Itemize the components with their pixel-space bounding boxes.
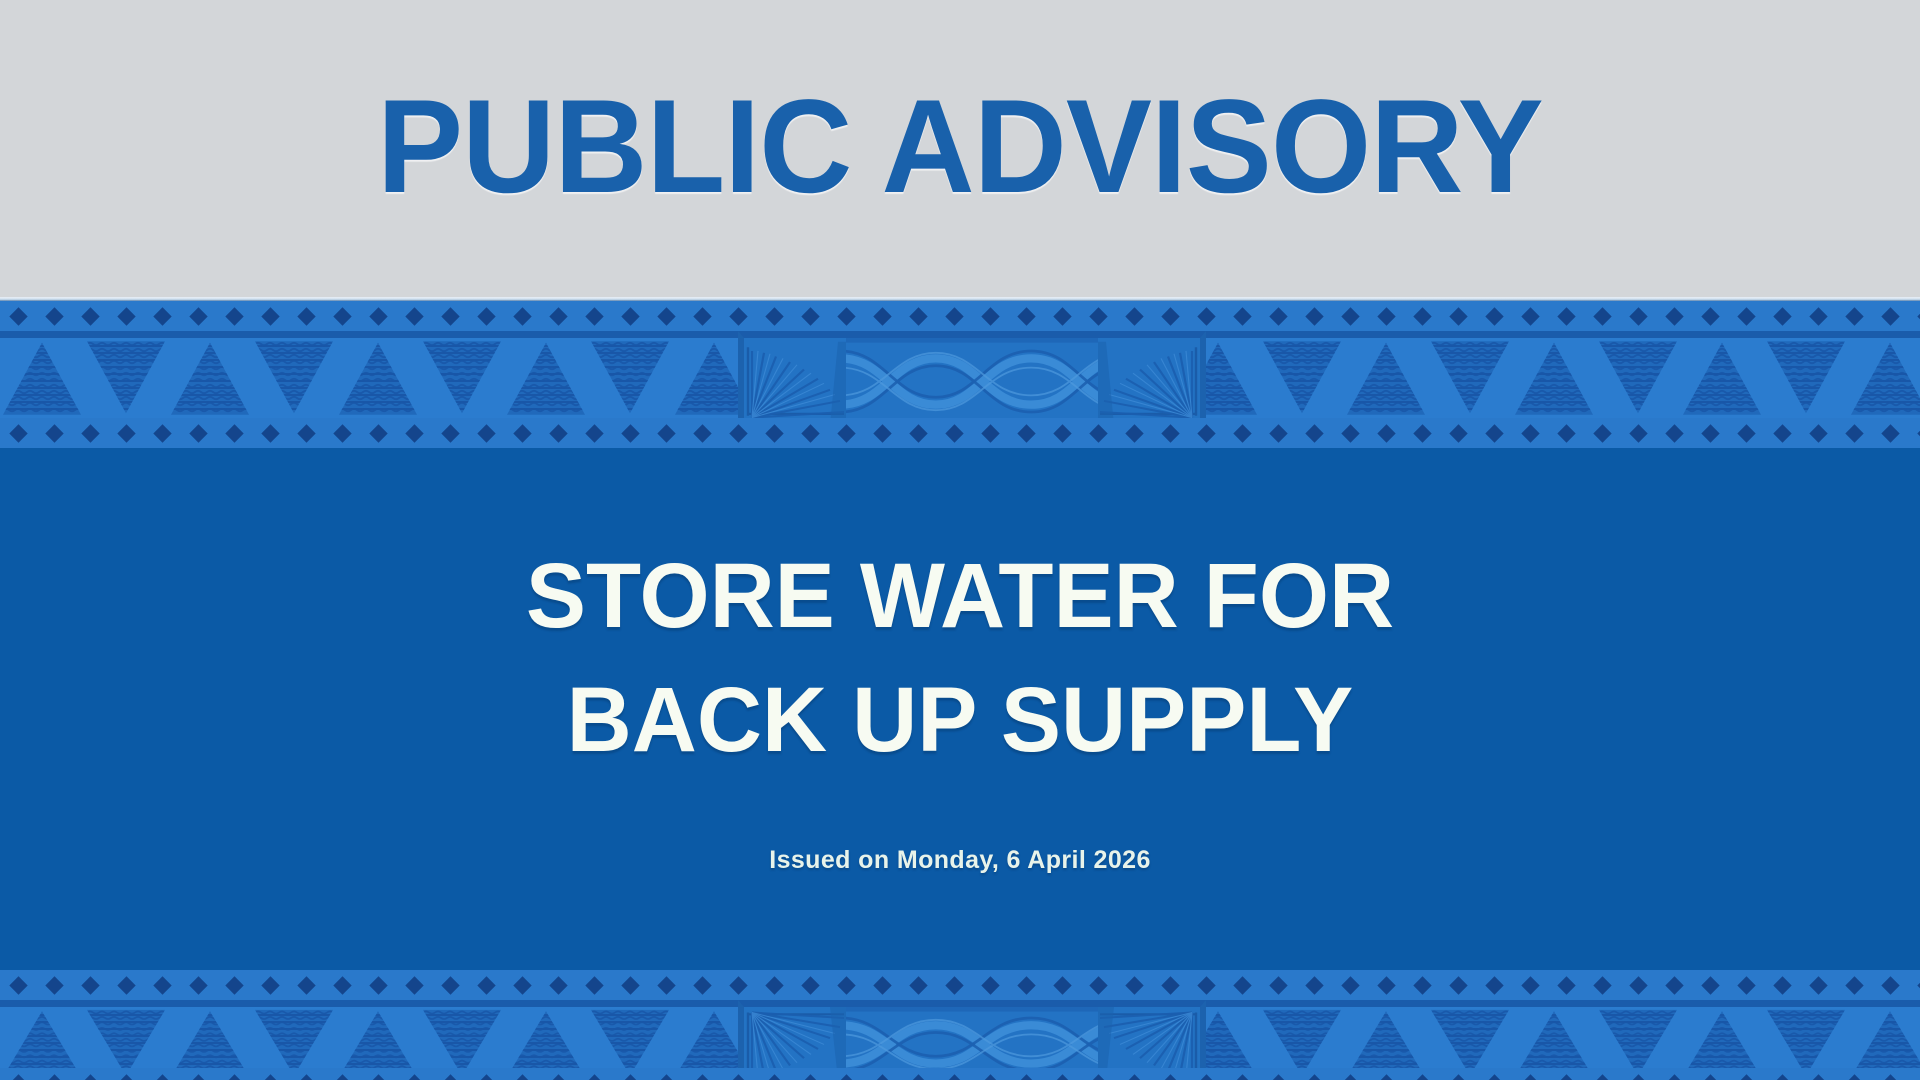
wavy-triangle-motif <box>420 338 504 418</box>
diamond-motif <box>1377 424 1395 442</box>
diamond-motif <box>1197 424 1215 442</box>
diamond-motif <box>1269 307 1287 325</box>
diamond-motif <box>1341 424 1359 442</box>
wavy-triangle-motif <box>252 338 336 418</box>
diamond-motif <box>1809 424 1827 442</box>
diamond-motif <box>81 1074 99 1080</box>
diamond-row <box>0 301 1920 331</box>
fan-svg <box>744 338 846 425</box>
diamond-motif <box>1701 307 1719 325</box>
diamond-motif <box>549 1074 567 1080</box>
braid-svg <box>846 338 1098 425</box>
diamond-motif <box>9 424 27 442</box>
wavy-triangle-motif <box>1428 338 1512 418</box>
diamond-motif <box>1701 976 1719 994</box>
diamond-motif <box>1197 307 1215 325</box>
diamond-motif <box>405 976 423 994</box>
top-ornament-band <box>0 301 1920 448</box>
diamond-motif <box>9 307 27 325</box>
diamond-motif <box>297 1074 315 1080</box>
diamond-motif <box>981 424 999 442</box>
sunburst-fan-icon-left <box>744 338 846 425</box>
diamond-rail-top <box>0 301 1920 331</box>
diamond-motif <box>153 307 171 325</box>
diamond-motif <box>945 424 963 442</box>
diamond-motif <box>1449 424 1467 442</box>
diamond-motif <box>765 307 783 325</box>
diamond-motif <box>1701 1074 1719 1080</box>
diamond-motif <box>621 307 639 325</box>
diamond-motif <box>981 1074 999 1080</box>
diamond-motif <box>333 307 351 325</box>
wavy-lines <box>1683 338 1761 418</box>
diamond-motif <box>1269 976 1287 994</box>
diamond-motif <box>225 976 243 994</box>
diamond-motif <box>1737 1074 1755 1080</box>
wavy-lines <box>1767 338 1845 418</box>
diamond-motif <box>801 1074 819 1080</box>
diamond-motif <box>1305 1074 1323 1080</box>
diamond-motif <box>1485 1074 1503 1080</box>
diamond-motif <box>657 1074 675 1080</box>
diamond-motif <box>549 976 567 994</box>
diamond-motif <box>909 976 927 994</box>
diamond-motif <box>1701 424 1719 442</box>
diamond-motif <box>441 1074 459 1080</box>
diamond-motif <box>1341 976 1359 994</box>
wavy-lines <box>423 338 501 418</box>
diamond-motif <box>1593 976 1611 994</box>
diamond-motif <box>585 1074 603 1080</box>
diamond-motif <box>225 1074 243 1080</box>
diamond-motif <box>9 976 27 994</box>
diamond-motif <box>981 976 999 994</box>
diamond-motif <box>117 424 135 442</box>
issued-date: Issued on Monday, 6 April 2026 <box>769 846 1151 875</box>
diamond-motif <box>945 976 963 994</box>
diamond-motif <box>1053 976 1071 994</box>
diamond-motif <box>1593 1074 1611 1080</box>
diamond-motif <box>1521 1074 1539 1080</box>
diamond-rail-bottom <box>0 418 1920 448</box>
diamond-motif <box>1125 307 1143 325</box>
diamond-motif <box>1377 976 1395 994</box>
diamond-motif <box>1017 976 1035 994</box>
diamond-motif <box>801 307 819 325</box>
diamond-motif <box>1521 307 1539 325</box>
interlaced-braid <box>846 338 1098 425</box>
diamond-motif <box>1233 1074 1251 1080</box>
diamond-rail-top <box>0 970 1920 1000</box>
diamond-motif <box>621 1074 639 1080</box>
diamond-motif <box>153 976 171 994</box>
diamond-motif <box>1557 424 1575 442</box>
wavy-triangle-motif <box>1344 338 1428 418</box>
diamond-motif <box>801 424 819 442</box>
diamond-motif <box>1665 976 1683 994</box>
diamond-motif <box>405 1074 423 1080</box>
diamond-motif <box>369 1074 387 1080</box>
diamond-motif <box>1593 307 1611 325</box>
diamond-motif <box>1737 424 1755 442</box>
diamond-motif <box>1845 424 1863 442</box>
diamond-motif <box>873 307 891 325</box>
diamond-motif <box>657 976 675 994</box>
diamond-motif <box>945 307 963 325</box>
diamond-motif <box>225 307 243 325</box>
diamond-motif <box>1809 976 1827 994</box>
diamond-motif <box>189 307 207 325</box>
diamond-motif <box>765 976 783 994</box>
diamond-motif <box>369 307 387 325</box>
diamond-motif <box>1881 424 1899 442</box>
diamond-motif <box>45 307 63 325</box>
diamond-motif <box>1089 976 1107 994</box>
wavy-lines <box>255 338 333 418</box>
diamond-motif <box>513 424 531 442</box>
diamond-motif <box>117 307 135 325</box>
diamond-motif <box>765 1074 783 1080</box>
diamond-motif <box>261 976 279 994</box>
wavy-triangle-motif <box>0 338 84 418</box>
diamond-motif <box>477 976 495 994</box>
wavy-triangle-motif <box>1680 338 1764 418</box>
diamond-motif <box>297 976 315 994</box>
diamond-motif <box>909 1074 927 1080</box>
page-title: PUBLIC ADVISORY <box>377 81 1543 214</box>
diamond-motif <box>1413 424 1431 442</box>
diamond-motif <box>45 1074 63 1080</box>
diamond-motif <box>189 976 207 994</box>
diamond-motif <box>1449 1074 1467 1080</box>
diamond-motif <box>1629 424 1647 442</box>
diamond-motif <box>1665 1074 1683 1080</box>
diamond-motif <box>441 424 459 442</box>
wavy-triangle-motif <box>504 338 588 418</box>
diamond-motif <box>1737 307 1755 325</box>
diamond-motif <box>873 424 891 442</box>
wavy-triangle-motif <box>1512 338 1596 418</box>
diamond-motif <box>513 976 531 994</box>
diamond-motif <box>1845 1074 1863 1080</box>
diamond-motif <box>1089 424 1107 442</box>
wavy-triangle-motif <box>336 338 420 418</box>
diamond-motif <box>1773 976 1791 994</box>
diamond-motif <box>693 976 711 994</box>
diamond-motif <box>405 307 423 325</box>
diamond-motif <box>1485 976 1503 994</box>
diamond-motif <box>333 976 351 994</box>
diamond-motif <box>1593 424 1611 442</box>
diamond-motif <box>729 1074 747 1080</box>
wavy-lines <box>1347 338 1425 418</box>
sunburst-fan-icon-right <box>1098 338 1200 425</box>
diamond-motif <box>1161 976 1179 994</box>
diamond-motif <box>1881 976 1899 994</box>
diamond-motif <box>1665 307 1683 325</box>
diamond-motif <box>1809 307 1827 325</box>
diamond-row <box>0 1068 1920 1080</box>
diamond-motif <box>1341 307 1359 325</box>
diamond-motif <box>1665 424 1683 442</box>
header-band: PUBLIC ADVISORY <box>0 0 1920 301</box>
diamond-motif <box>1845 976 1863 994</box>
diamond-motif <box>1053 307 1071 325</box>
wavy-lines <box>87 338 165 418</box>
diamond-motif <box>1773 424 1791 442</box>
diamond-motif <box>1413 1074 1431 1080</box>
diamond-motif <box>837 424 855 442</box>
diamond-motif <box>621 976 639 994</box>
diamond-motif <box>657 307 675 325</box>
diamond-motif <box>1485 307 1503 325</box>
diamond-motif <box>1233 307 1251 325</box>
diamond-motif <box>1341 1074 1359 1080</box>
diamond-motif <box>1773 1074 1791 1080</box>
wavy-lines <box>1431 338 1509 418</box>
wavy-lines <box>1263 338 1341 418</box>
wavy-triangle-motif <box>1260 338 1344 418</box>
diamond-motif <box>405 424 423 442</box>
diamond-motif <box>297 307 315 325</box>
wavy-lines <box>1599 338 1677 418</box>
diamond-motif <box>1305 976 1323 994</box>
diamond-motif <box>1305 307 1323 325</box>
diamond-motif <box>837 1074 855 1080</box>
diamond-motif <box>153 1074 171 1080</box>
diamond-motif <box>1413 976 1431 994</box>
diamond-motif <box>1557 1074 1575 1080</box>
diamond-motif <box>1017 307 1035 325</box>
diamond-rail-bottom <box>0 1068 1920 1080</box>
diamond-motif <box>477 424 495 442</box>
diamond-motif <box>81 307 99 325</box>
diamond-motif <box>1089 307 1107 325</box>
fan-svg <box>1098 338 1200 425</box>
wavy-triangle-motif <box>84 338 168 418</box>
diamond-motif <box>1485 424 1503 442</box>
diamond-motif <box>1629 1074 1647 1080</box>
diamond-motif <box>333 424 351 442</box>
diamond-motif <box>729 976 747 994</box>
wavy-triangle-motif <box>588 338 672 418</box>
diamond-motif <box>1269 1074 1287 1080</box>
diamond-motif <box>1197 1074 1215 1080</box>
headline-line-1: STORE WATER FOR <box>526 534 1394 658</box>
diamond-motif <box>873 1074 891 1080</box>
diamond-motif <box>1161 1074 1179 1080</box>
diamond-motif <box>1809 1074 1827 1080</box>
wavy-triangle-motif <box>168 338 252 418</box>
diamond-motif <box>1161 424 1179 442</box>
diamond-motif <box>1125 1074 1143 1080</box>
diamond-motif <box>1737 976 1755 994</box>
diamond-motif <box>261 1074 279 1080</box>
diamond-motif <box>765 424 783 442</box>
diamond-motif <box>801 976 819 994</box>
diamond-motif <box>441 307 459 325</box>
diamond-motif <box>1881 1074 1899 1080</box>
diamond-row <box>0 970 1920 1000</box>
diamond-motif <box>117 976 135 994</box>
wavy-triangle-motif <box>1848 338 1920 418</box>
diamond-motif <box>1773 307 1791 325</box>
diamond-motif <box>1017 424 1035 442</box>
diamond-motif <box>909 424 927 442</box>
diamond-motif <box>1233 424 1251 442</box>
diamond-motif <box>1233 976 1251 994</box>
diamond-motif <box>585 976 603 994</box>
headline-line-2: BACK UP SUPPLY <box>526 658 1394 782</box>
diamond-motif <box>1629 976 1647 994</box>
diamond-motif <box>1629 307 1647 325</box>
diamond-motif <box>621 424 639 442</box>
center-medallion <box>738 331 1206 425</box>
diamond-motif <box>189 424 207 442</box>
diamond-motif <box>477 1074 495 1080</box>
diamond-motif <box>585 424 603 442</box>
wavy-lines <box>507 338 585 418</box>
diamond-motif <box>513 307 531 325</box>
diamond-motif <box>1557 976 1575 994</box>
diamond-motif <box>585 307 603 325</box>
wavy-triangle-motif <box>1596 338 1680 418</box>
diamond-motif <box>1125 976 1143 994</box>
wavy-triangle-motif <box>1764 338 1848 418</box>
diamond-motif <box>549 307 567 325</box>
diamond-motif <box>1377 1074 1395 1080</box>
diamond-motif <box>981 307 999 325</box>
diamond-motif <box>729 424 747 442</box>
diamond-motif <box>477 307 495 325</box>
diamond-motif <box>333 1074 351 1080</box>
advisory-content: STORE WATER FOR BACK UP SUPPLY Issued on… <box>0 448 1920 970</box>
diamond-motif <box>1017 1074 1035 1080</box>
diamond-motif <box>1197 976 1215 994</box>
wavy-lines <box>339 338 417 418</box>
wavy-lines <box>591 338 669 418</box>
diamond-motif <box>549 424 567 442</box>
wavy-lines <box>1851 338 1920 418</box>
diamond-motif <box>1881 307 1899 325</box>
diamond-motif <box>261 424 279 442</box>
diamond-motif <box>1521 976 1539 994</box>
diamond-motif <box>9 1074 27 1080</box>
wavy-lines <box>3 338 81 418</box>
diamond-motif <box>261 307 279 325</box>
diamond-motif <box>297 424 315 442</box>
diamond-motif <box>153 424 171 442</box>
diamond-motif <box>369 424 387 442</box>
diamond-motif <box>729 307 747 325</box>
diamond-motif <box>945 1074 963 1080</box>
diamond-motif <box>441 976 459 994</box>
diamond-motif <box>1845 307 1863 325</box>
diamond-motif <box>1089 1074 1107 1080</box>
diamond-motif <box>1161 307 1179 325</box>
diamond-motif <box>1413 307 1431 325</box>
diamond-motif <box>1449 976 1467 994</box>
diamond-motif <box>369 976 387 994</box>
public-advisory-poster: PUBLIC ADVISORY <box>0 0 1920 1080</box>
diamond-motif <box>189 1074 207 1080</box>
diamond-motif <box>1377 307 1395 325</box>
diamond-motif <box>45 424 63 442</box>
diamond-motif <box>1053 1074 1071 1080</box>
diamond-motif <box>693 307 711 325</box>
diamond-motif <box>81 424 99 442</box>
diamond-motif <box>1269 424 1287 442</box>
bottom-ornament-band <box>0 970 1920 1080</box>
diamond-motif <box>225 424 243 442</box>
diamond-motif <box>117 1074 135 1080</box>
diamond-motif <box>1521 424 1539 442</box>
diamond-row <box>0 418 1920 448</box>
diamond-motif <box>909 307 927 325</box>
diamond-motif <box>1449 307 1467 325</box>
diamond-motif <box>873 976 891 994</box>
diamond-motif <box>693 1074 711 1080</box>
wavy-lines <box>171 338 249 418</box>
diamond-motif <box>1305 424 1323 442</box>
diamond-motif <box>45 976 63 994</box>
diamond-motif <box>1557 307 1575 325</box>
diamond-motif <box>513 1074 531 1080</box>
diamond-motif <box>837 307 855 325</box>
diamond-motif <box>1053 424 1071 442</box>
diamond-motif <box>693 424 711 442</box>
wavy-lines <box>1515 338 1593 418</box>
diamond-motif <box>1125 424 1143 442</box>
diamond-motif <box>837 976 855 994</box>
advisory-headline: STORE WATER FOR BACK UP SUPPLY <box>526 534 1394 782</box>
diamond-motif <box>81 976 99 994</box>
diamond-motif <box>657 424 675 442</box>
